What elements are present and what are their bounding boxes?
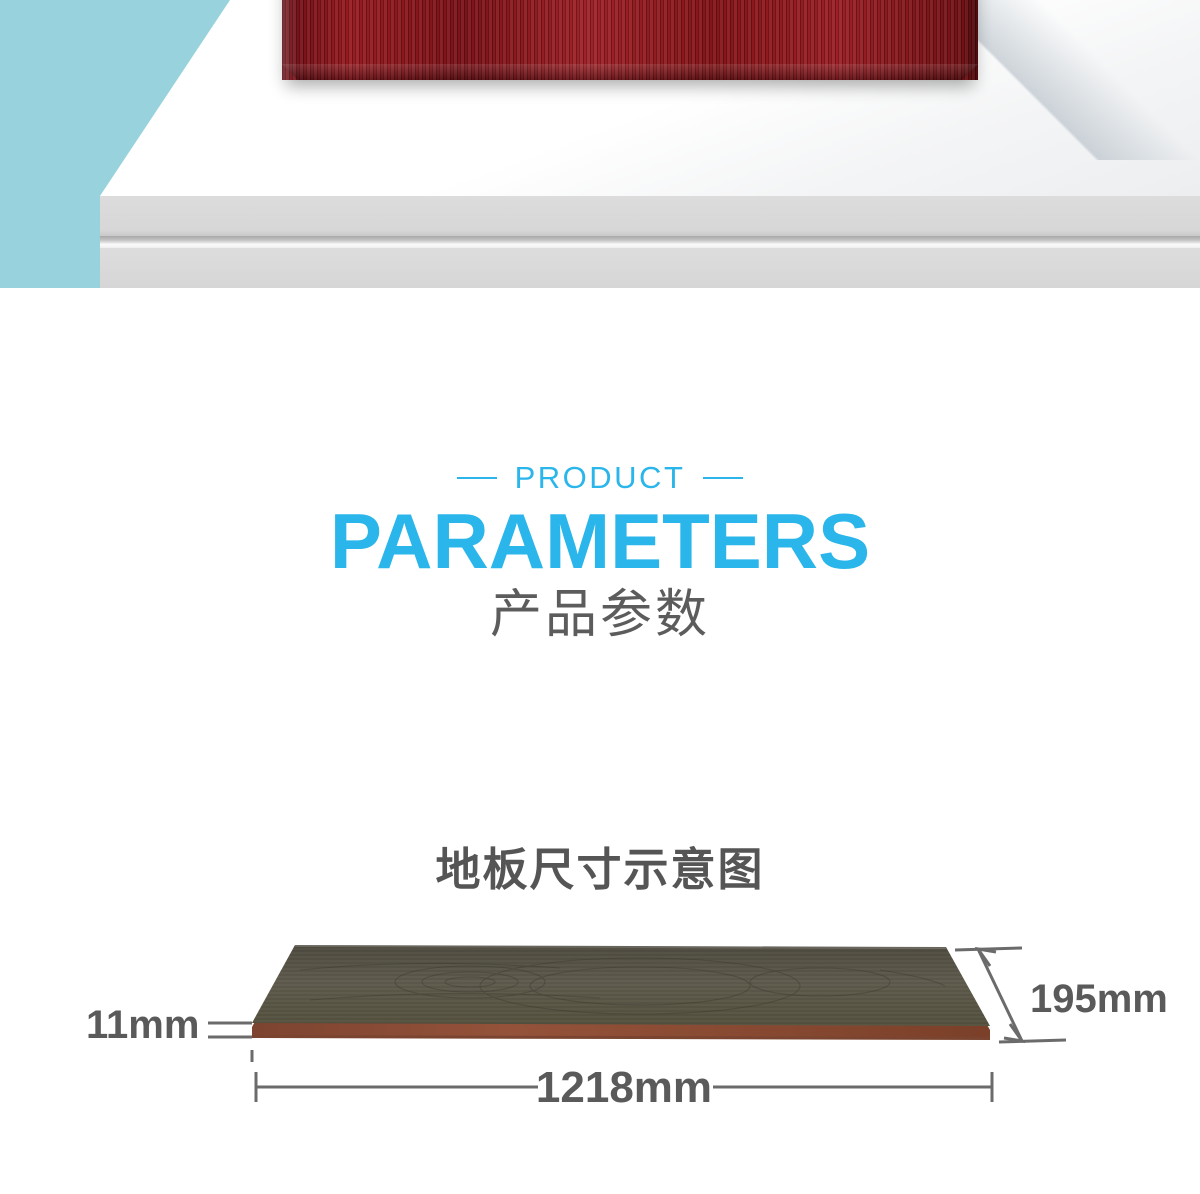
thickness-label: 11mm (86, 1003, 199, 1047)
product-parameters-heading: PRODUCT PARAMETERS 产品参数 (0, 462, 1200, 644)
eyebrow-row: PRODUCT (0, 462, 1200, 493)
table-groove-line (100, 236, 1200, 248)
plank-dimension-figure: 11mm 195mm 1218mm (0, 930, 1200, 1130)
hero-photo-band (0, 0, 1200, 288)
length-label: 1218mm (536, 1063, 712, 1112)
section-title: PARAMETERS (0, 501, 1200, 583)
thickness-dimension: 11mm (86, 1003, 252, 1062)
table-front-panel (100, 248, 1200, 288)
corner-shadow-gradient (940, 0, 1200, 160)
dash-right-icon (703, 477, 743, 479)
award-plaque (282, 0, 978, 80)
section-subtitle: 产品参数 (0, 587, 1200, 644)
plank-diagram-svg: 11mm 195mm 1218mm (0, 930, 1200, 1130)
plank-body (252, 945, 990, 1040)
width-label: 195mm (1030, 977, 1168, 1021)
length-dimension: 1218mm (256, 1063, 992, 1112)
table-apron (100, 196, 1200, 236)
eyebrow-label: PRODUCT (515, 462, 686, 493)
diagram-title: 地板尺寸示意图 (0, 833, 1200, 898)
dash-left-icon (457, 477, 497, 479)
plaque-bottom-bevel (282, 64, 978, 80)
